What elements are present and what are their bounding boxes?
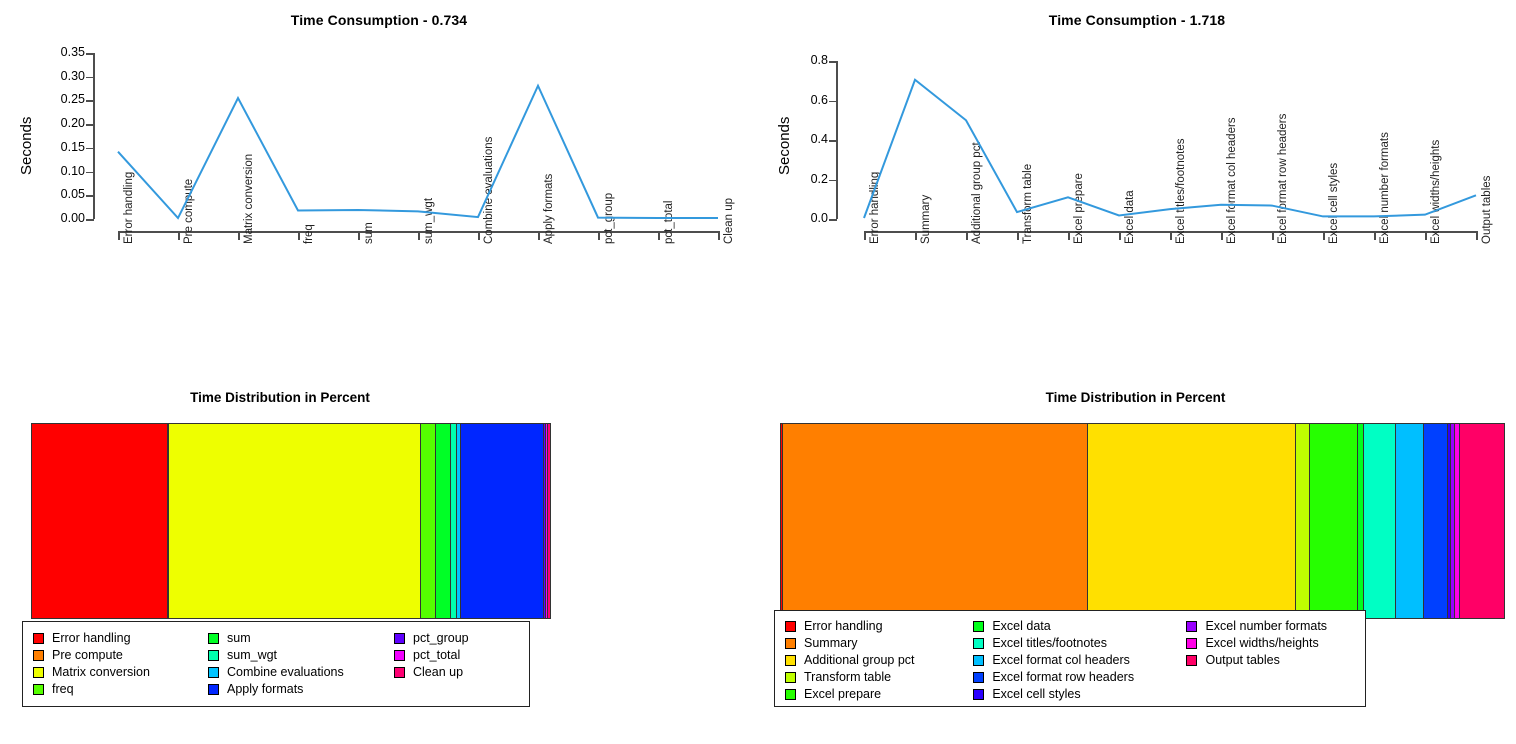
- legend-item[interactable]: Error handling: [785, 618, 973, 634]
- legend-item[interactable]: Excel format col headers: [973, 652, 1186, 668]
- legend-column: Excel dataExcel titles/footnotesExcel fo…: [973, 618, 1186, 699]
- distribution-segment: [1088, 424, 1297, 618]
- legend-item-label: Summary: [804, 635, 857, 651]
- distribution-segment: [1396, 424, 1424, 618]
- legend-item[interactable]: Error handling: [33, 630, 208, 646]
- distribution-segment: [1424, 424, 1448, 618]
- legend-item-label: Excel number formats: [1205, 618, 1327, 634]
- legend-swatch-icon: [394, 633, 405, 644]
- right-legend: Error handlingSummaryAdditional group pc…: [774, 610, 1366, 707]
- legend-swatch-icon: [1186, 638, 1197, 649]
- legend-item-label: Excel cell styles: [992, 686, 1080, 702]
- legend-column: Error handlingPre computeMatrix conversi…: [33, 630, 208, 698]
- distribution-segment: [32, 424, 168, 618]
- distribution-segment: [1364, 424, 1395, 618]
- legend-swatch-icon: [394, 667, 405, 678]
- legend-item[interactable]: Excel widths/heights: [1186, 635, 1355, 651]
- distribution-segment: [169, 424, 420, 618]
- legend-item[interactable]: sum: [208, 630, 394, 646]
- legend-swatch-icon: [208, 650, 219, 661]
- legend-swatch-icon: [33, 667, 44, 678]
- legend-item-label: Output tables: [1205, 652, 1279, 668]
- legend-item-label: sum: [227, 630, 251, 646]
- legend-item[interactable]: Excel format row headers: [973, 669, 1186, 685]
- legend-item-label: Pre compute: [52, 647, 123, 663]
- legend-item-label: Excel titles/footnotes: [992, 635, 1107, 651]
- legend-item[interactable]: Pre compute: [33, 647, 208, 663]
- legend-item-label: Excel data: [992, 618, 1050, 634]
- legend-swatch-icon: [973, 672, 984, 683]
- legend-item-label: freq: [52, 681, 74, 697]
- legend-column: Error handlingSummaryAdditional group pc…: [785, 618, 973, 699]
- legend-swatch-icon: [394, 650, 405, 661]
- legend-swatch-icon: [1186, 655, 1197, 666]
- panel-left: Time Consumption - 0.734 Seconds 0.000.0…: [0, 0, 758, 744]
- legend-item-label: Excel format row headers: [992, 669, 1134, 685]
- legend-column: Excel number formatsExcel widths/heights…: [1186, 618, 1355, 699]
- legend-item-label: Excel prepare: [804, 686, 881, 702]
- right-time-distribution-bar: [780, 423, 1505, 619]
- legend-swatch-icon: [208, 633, 219, 644]
- distribution-segment: [548, 424, 550, 618]
- legend-swatch-icon: [785, 655, 796, 666]
- legend-item-label: Excel widths/heights: [1205, 635, 1318, 651]
- legend-item[interactable]: sum_wgt: [208, 647, 394, 663]
- legend-swatch-icon: [208, 684, 219, 695]
- legend-item-label: Additional group pct: [804, 652, 915, 668]
- legend-item[interactable]: Summary: [785, 635, 973, 651]
- distribution-segment: [1460, 424, 1504, 618]
- legend-item-label: pct_total: [413, 647, 460, 663]
- distribution-segment: [1310, 424, 1359, 618]
- legend-swatch-icon: [973, 689, 984, 700]
- legend-item[interactable]: Apply formats: [208, 681, 394, 697]
- legend-swatch-icon: [33, 633, 44, 644]
- legend-swatch-icon: [973, 638, 984, 649]
- legend-item[interactable]: Excel titles/footnotes: [973, 635, 1186, 651]
- legend-item[interactable]: Excel data: [973, 618, 1186, 634]
- legend-swatch-icon: [785, 621, 796, 632]
- legend-column: pct_grouppct_totalClean up: [394, 630, 514, 698]
- legend-swatch-icon: [33, 684, 44, 695]
- legend-item-label: sum_wgt: [227, 647, 277, 663]
- legend-item[interactable]: Excel prepare: [785, 686, 973, 702]
- legend-item-label: Excel format col headers: [992, 652, 1130, 668]
- legend-item[interactable]: pct_total: [394, 647, 514, 663]
- legend-item[interactable]: Combine evaluations: [208, 664, 394, 680]
- legend-item[interactable]: Excel number formats: [1186, 618, 1355, 634]
- legend-item[interactable]: Matrix conversion: [33, 664, 208, 680]
- legend-swatch-icon: [973, 655, 984, 666]
- legend-item-label: Transform table: [804, 669, 891, 685]
- legend-item-label: Error handling: [52, 630, 131, 646]
- legend-swatch-icon: [1186, 621, 1197, 632]
- legend-column: sumsum_wgtCombine evaluationsApply forma…: [208, 630, 394, 698]
- legend-swatch-icon: [33, 650, 44, 661]
- legend-item-label: Matrix conversion: [52, 664, 150, 680]
- legend-swatch-icon: [208, 667, 219, 678]
- left-dist-title: Time Distribution in Percent: [0, 390, 560, 405]
- legend-item[interactable]: Excel cell styles: [973, 686, 1186, 702]
- legend-item[interactable]: Additional group pct: [785, 652, 973, 668]
- legend-swatch-icon: [973, 621, 984, 632]
- legend-swatch-icon: [785, 672, 796, 683]
- distribution-segment: [421, 424, 436, 618]
- legend-item[interactable]: freq: [33, 681, 208, 697]
- panel-right: Time Consumption - 1.718 Seconds 0.00.20…: [758, 0, 1516, 744]
- legend-item-label: Combine evaluations: [227, 664, 344, 680]
- legend-swatch-icon: [785, 638, 796, 649]
- legend-item[interactable]: pct_group: [394, 630, 514, 646]
- distribution-segment: [436, 424, 451, 618]
- distribution-segment: [1296, 424, 1309, 618]
- legend-item-label: Apply formats: [227, 681, 303, 697]
- legend-item-label: Error handling: [804, 618, 883, 634]
- distribution-segment: [461, 424, 544, 618]
- left-time-distribution-bar: [31, 423, 551, 619]
- legend-item[interactable]: Output tables: [1186, 652, 1355, 668]
- legend-item-label: Clean up: [413, 664, 463, 680]
- legend-swatch-icon: [785, 689, 796, 700]
- left-legend: Error handlingPre computeMatrix conversi…: [22, 621, 530, 707]
- legend-item-label: pct_group: [413, 630, 469, 646]
- right-dist-title: Time Distribution in Percent: [763, 390, 1508, 405]
- legend-item[interactable]: Transform table: [785, 669, 973, 685]
- legend-item[interactable]: Clean up: [394, 664, 514, 680]
- time-consumption-series: [758, 0, 1516, 400]
- distribution-segment: [783, 424, 1088, 618]
- time-consumption-series: [0, 0, 758, 400]
